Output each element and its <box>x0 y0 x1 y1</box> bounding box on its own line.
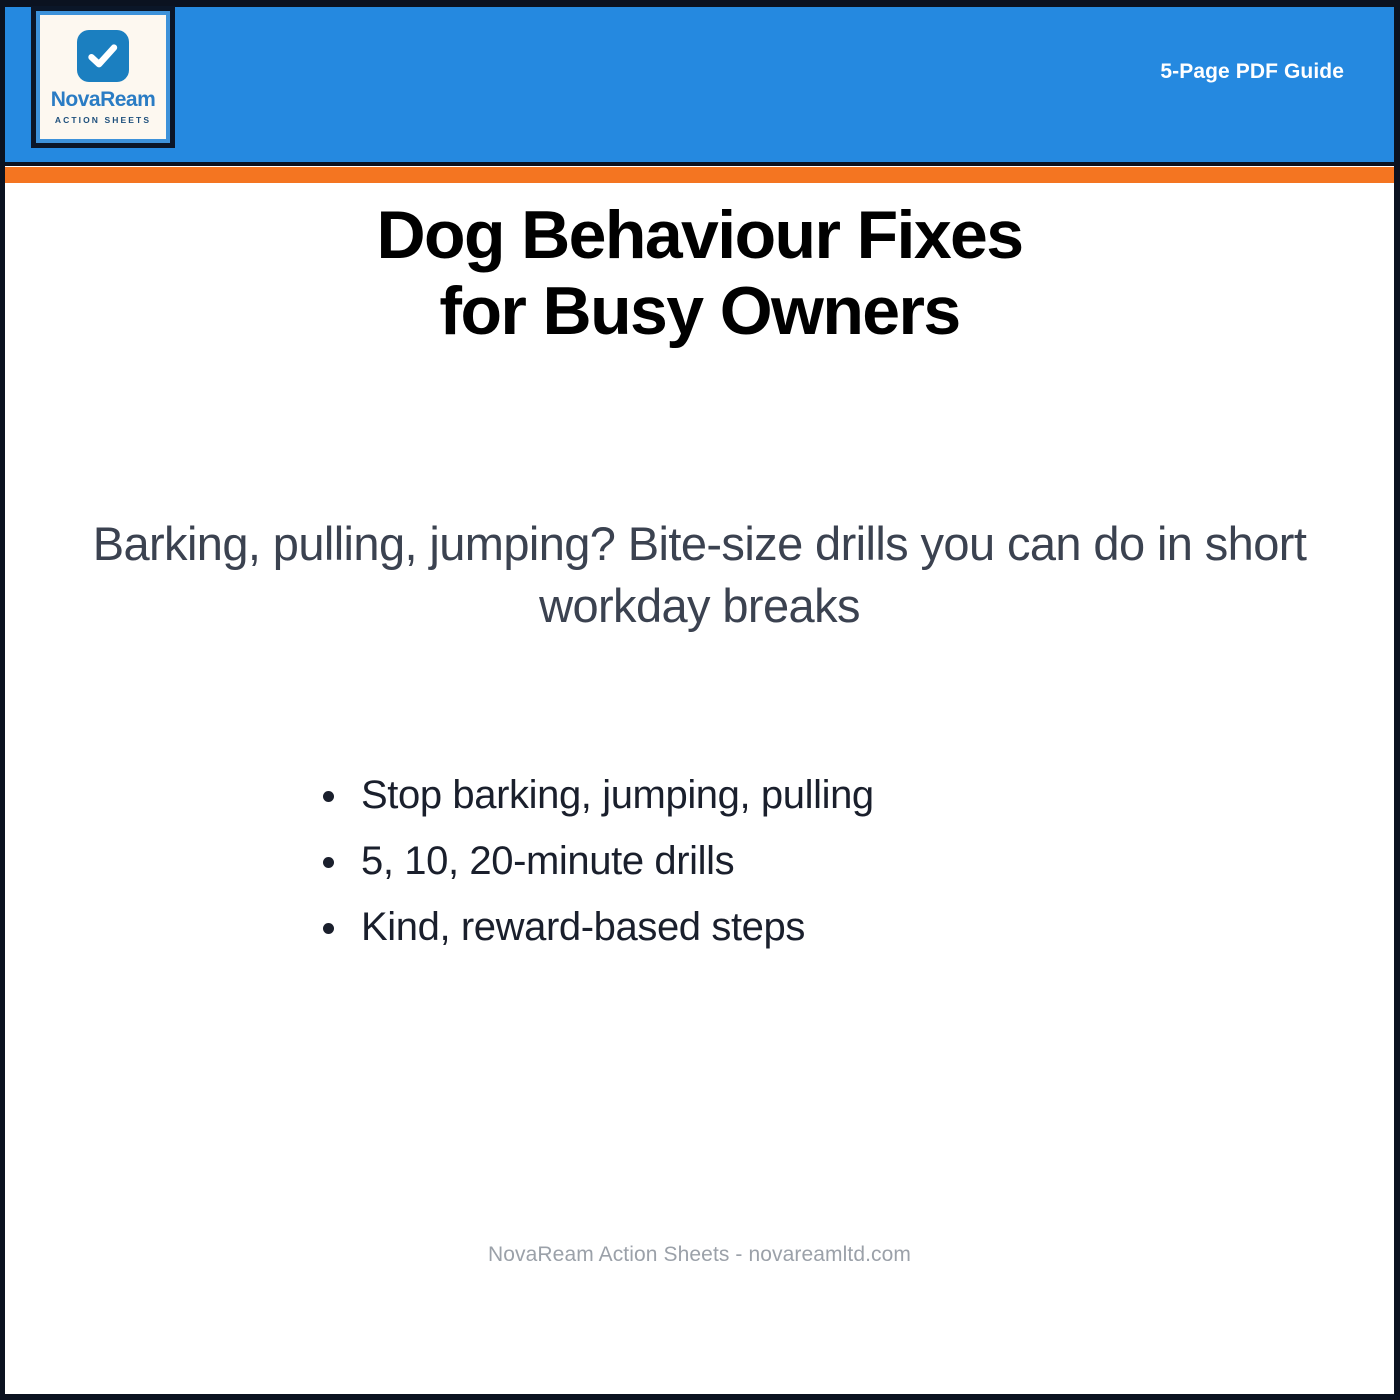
logo-ring: NovaReam ACTION SHEETS <box>36 11 170 143</box>
page-title: Dog Behaviour Fixes for Busy Owners <box>5 197 1394 349</box>
page-title-line-2: for Busy Owners <box>439 273 959 349</box>
page-border-bottom <box>0 1394 1400 1400</box>
benefit-list: Stop barking, jumping, pulling 5, 10, 20… <box>323 775 1223 973</box>
page-subtitle: Barking, pulling, jumping? Bite-size dri… <box>5 513 1394 637</box>
page-border-left <box>0 0 5 1400</box>
list-item-label: 5, 10, 20-minute drills <box>361 839 734 883</box>
list-item-label: Stop barking, jumping, pulling <box>361 773 874 817</box>
list-item: Kind, reward-based steps <box>323 907 1223 947</box>
bullet-dot-icon <box>323 857 334 868</box>
list-item: Stop barking, jumping, pulling <box>323 775 1223 815</box>
pdf-cover-page: NovaReam ACTION SHEETS 5-Page PDF Guide … <box>0 0 1400 1400</box>
cover-content: Dog Behaviour Fixes for Busy Owners Bark… <box>5 183 1394 1394</box>
checkmark-icon <box>77 30 129 82</box>
brand-logo: NovaReam ACTION SHEETS <box>31 6 175 148</box>
logo-tagline: ACTION SHEETS <box>55 116 151 125</box>
list-item-label: Kind, reward-based steps <box>361 905 805 949</box>
page-border-right <box>1394 0 1400 1400</box>
page-footer: NovaReam Action Sheets - novareamltd.com <box>5 1243 1394 1267</box>
page-count-badge: 5-Page PDF Guide <box>1160 60 1344 84</box>
logo-inner: NovaReam ACTION SHEETS <box>40 15 166 139</box>
bullet-dot-icon <box>323 791 334 802</box>
accent-divider <box>0 167 1400 183</box>
logo-wordmark: NovaReam <box>51 89 156 110</box>
page-title-line-1: Dog Behaviour Fixes <box>377 197 1023 273</box>
list-item: 5, 10, 20-minute drills <box>323 841 1223 881</box>
bullet-dot-icon <box>323 923 334 934</box>
